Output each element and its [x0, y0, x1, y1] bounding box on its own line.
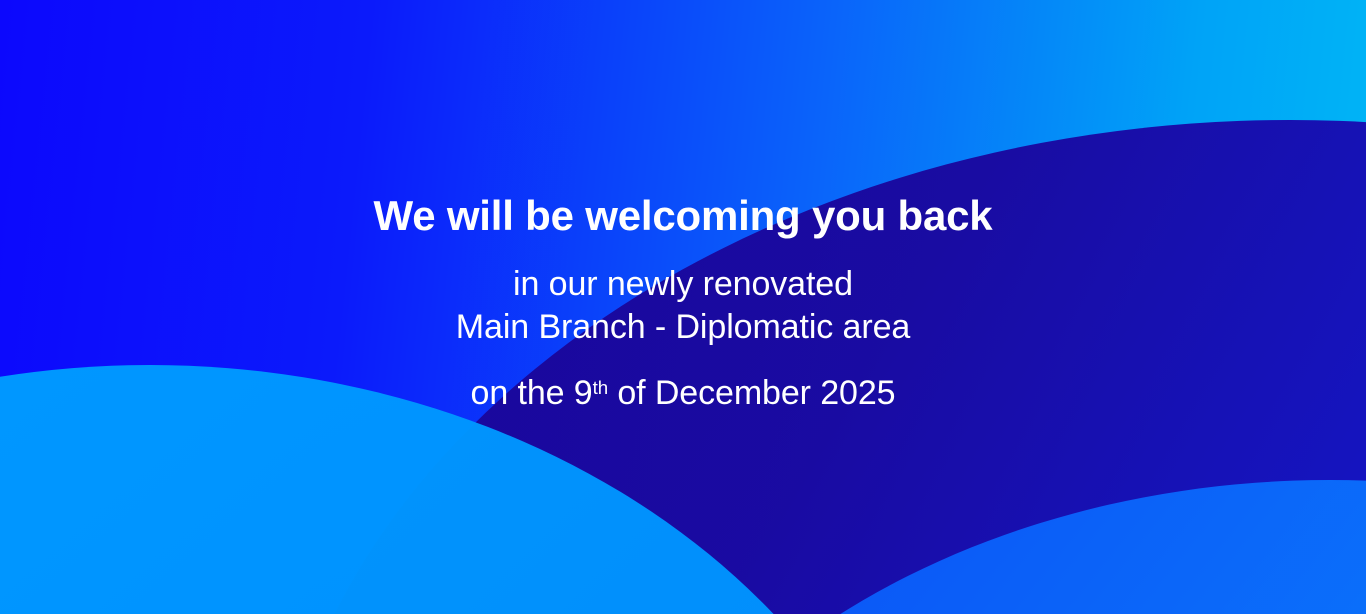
banner-content: We will be welcoming you back in our new… [0, 0, 1366, 614]
banner-subline-location-intro: in our newly renovated [456, 263, 910, 306]
dateline-prefix: on the 9 [471, 374, 593, 412]
dateline-ordinal-suffix: th [593, 377, 608, 398]
banner-subline-branch-name: Main Branch - Diplomatic area [456, 306, 910, 349]
banner-dateline: on the 9th of December 2025 [471, 374, 896, 413]
banner-subheadline-group: in our newly renovated Main Branch - Dip… [456, 263, 910, 349]
promotional-banner: We will be welcoming you back in our new… [0, 0, 1366, 614]
banner-headline: We will be welcoming you back [374, 0, 993, 239]
dateline-suffix: of December 2025 [608, 374, 895, 412]
